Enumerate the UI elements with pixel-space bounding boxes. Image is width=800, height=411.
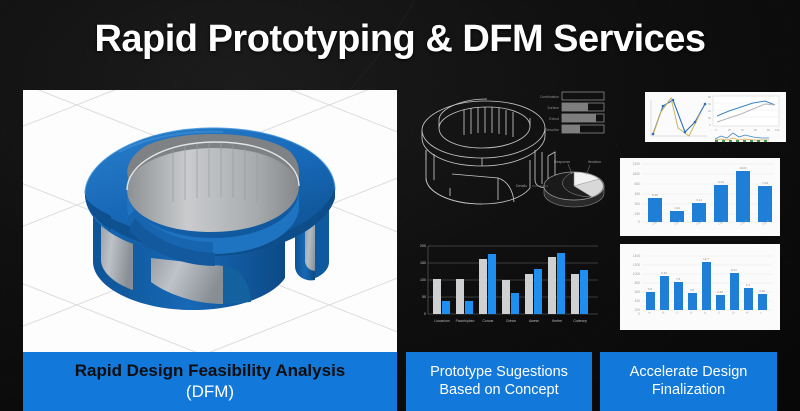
grouped-bar-chart: 200150 10050 0 Liocaniom Pacorhipkeo <box>406 238 606 343</box>
svg-text:16.01: 16.01 <box>739 166 747 170</box>
svg-text:Describe: Describe <box>546 128 559 132</box>
svg-text:300: 300 <box>634 202 640 206</box>
wireframe-drawing: Combination Surface Extrud Describe Resp… <box>412 88 608 238</box>
svg-text:800: 800 <box>635 281 641 285</box>
svg-text:Kerfee: Kerfee <box>552 319 562 323</box>
wireframe-legend: Combination Surface Extrud Describe <box>540 92 604 133</box>
svg-text:Response: Response <box>554 160 570 164</box>
svg-text:400: 400 <box>635 299 641 303</box>
svg-text:6.01: 6.01 <box>718 180 724 184</box>
svg-text:50: 50 <box>422 295 426 299</box>
svg-text:1800: 1800 <box>633 172 641 176</box>
svg-text:Grinse: Grinse <box>506 319 516 323</box>
svg-text:150: 150 <box>420 261 426 265</box>
svg-text:5.20: 5.20 <box>652 193 658 197</box>
svg-text:600: 600 <box>635 290 641 294</box>
svg-text:Liocaniom: Liocaniom <box>434 319 450 323</box>
wireframe-pie-chart: Response Iteration Details <box>516 160 604 207</box>
svg-text:1400: 1400 <box>633 254 640 258</box>
svg-text:Details: Details <box>516 184 527 188</box>
bar-chart-card-1: 21001800 600450 300150 0 5.201.91 3.146.… <box>620 158 780 236</box>
svg-text:5.0: 5.0 <box>648 287 652 291</box>
svg-text:0: 0 <box>638 312 640 316</box>
svg-text:Extrud: Extrud <box>549 117 559 121</box>
caption-mid-line1: Prototype Sugestions <box>430 364 568 381</box>
svg-text:1000: 1000 <box>633 272 640 276</box>
svg-text:12.7: 12.7 <box>703 257 709 261</box>
svg-text:Surface: Surface <box>547 106 559 110</box>
svg-text:Pacorhipkeo: Pacorhipkeo <box>456 319 475 323</box>
svg-text:1.91: 1.91 <box>674 206 680 210</box>
svg-text:0: 0 <box>638 220 640 224</box>
svg-text:3.14: 3.14 <box>696 198 702 202</box>
caption-main: Rapid Design Feasibility Analysis (DFM) <box>23 352 397 411</box>
line-chart-card: 8060 4020 0 020 4060 80100 <box>645 92 786 142</box>
svg-text:Codesep: Codesep <box>573 319 587 323</box>
caption-main-line1: Rapid Design Feasibility Analysis <box>75 361 346 381</box>
caption-right: Accelerate Design Finalization <box>600 352 777 411</box>
caption-mid: Prototype Sugestions Based on Concept <box>406 352 592 411</box>
svg-text:1200: 1200 <box>633 263 640 267</box>
bar-chart-1: 21001800 600450 300150 0 5.201.91 3.146.… <box>620 158 780 236</box>
bar-chart-2: 14001200 1000800 600400 2000 5.09.30 7.9… <box>620 244 780 330</box>
svg-text:150: 150 <box>634 212 640 216</box>
svg-text:4.16: 4.16 <box>759 289 765 293</box>
svg-text:600: 600 <box>634 182 640 186</box>
svg-text:4.40: 4.40 <box>717 290 723 294</box>
svg-text:7.04: 7.04 <box>762 181 768 185</box>
grouped-bar-chart-dark: 200150 10050 0 Liocaniom Pacorhipkeo <box>406 238 606 343</box>
wireframe-panel: Combination Surface Extrud Describe Resp… <box>412 88 608 238</box>
svg-text:7.9: 7.9 <box>676 277 680 281</box>
svg-text:100: 100 <box>420 278 426 282</box>
svg-text:450: 450 <box>634 192 640 196</box>
bar-chart-card-2: 14001200 1000800 600400 2000 5.09.30 7.9… <box>620 244 780 330</box>
svg-text:Awese: Awese <box>529 319 539 323</box>
svg-text:6.1: 6.1 <box>746 283 750 287</box>
page-title: Rapid Prototyping & DFM Services <box>0 18 800 61</box>
caption-main-line2: (DFM) <box>186 382 234 402</box>
svg-text:4.9: 4.9 <box>690 288 694 292</box>
cad-model-panel <box>23 90 397 352</box>
svg-text:8.01: 8.01 <box>731 268 737 272</box>
svg-text:200: 200 <box>420 244 426 248</box>
svg-text:0: 0 <box>424 312 426 316</box>
caption-mid-line2: Based on Concept <box>439 382 558 399</box>
cad-bracket-render <box>23 90 397 352</box>
svg-text:Iteration: Iteration <box>588 160 601 164</box>
caption-right-line1: Accelerate Design <box>630 364 748 381</box>
svg-text:100: 100 <box>775 128 780 132</box>
svg-text:Cunvar: Cunvar <box>483 319 495 323</box>
line-chart: 8060 4020 0 020 4060 80100 <box>645 92 786 142</box>
svg-text:2100: 2100 <box>633 162 641 166</box>
caption-right-line2: Finalization <box>652 382 725 399</box>
svg-text:9.30: 9.30 <box>661 271 667 275</box>
svg-text:Combination: Combination <box>540 95 559 99</box>
